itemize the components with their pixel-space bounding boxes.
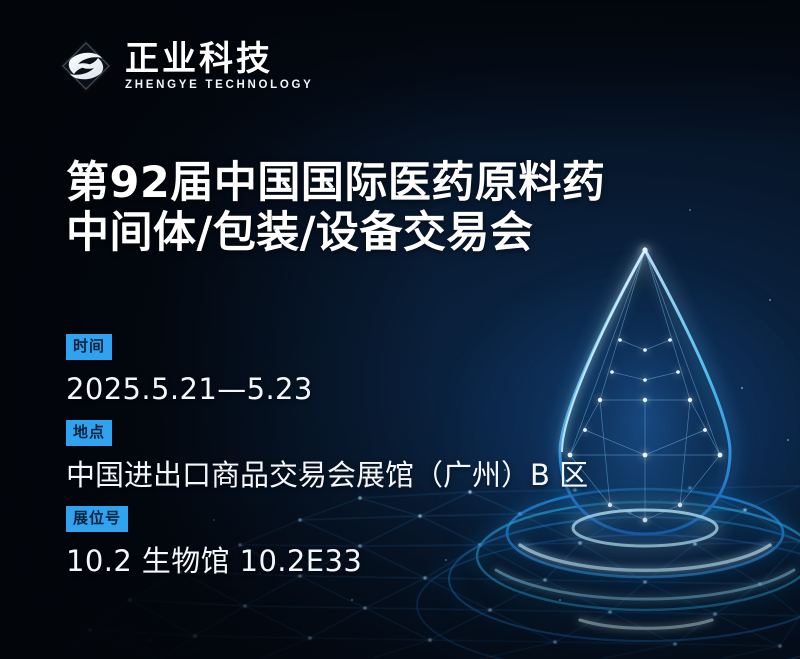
zhengye-diamond-swirl-icon (58, 38, 114, 94)
headline-line-2: 中间体/包装/设备交易会 (66, 208, 686, 258)
logo-company-name-en: ZHENGYE TECHNOLOGY (125, 79, 314, 92)
company-logo: 正业科技 ZHENGYE TECHNOLOGY (58, 38, 314, 94)
label-badge-time: 时间 (66, 334, 112, 360)
logo-wordmark: 正业科技 ZHENGYE TECHNOLOGY (125, 41, 314, 92)
label-badge-booth: 展位号 (66, 506, 128, 532)
value-booth-number: 10.2 生物馆 10.2E33 (66, 543, 726, 579)
headline-line-1: 第92届中国国际医药原料药 (66, 158, 686, 208)
event-details: 时间 2025.5.21—5.23 地点 中国进出口商品交易会展馆（广州）B 区… (66, 334, 726, 592)
detail-row-location: 地点 中国进出口商品交易会展馆（广州）B 区 (66, 420, 726, 493)
detail-row-time: 时间 2025.5.21—5.23 (66, 334, 726, 407)
exhibition-banner: 正业科技 ZHENGYE TECHNOLOGY 第92届中国国际医药原料药 中间… (0, 0, 800, 659)
event-headline: 第92届中国国际医药原料药 中间体/包装/设备交易会 (66, 158, 686, 258)
detail-row-booth: 展位号 10.2 生物馆 10.2E33 (66, 506, 726, 579)
value-event-location: 中国进出口商品交易会展馆（广州）B 区 (66, 457, 726, 493)
label-badge-location: 地点 (66, 420, 112, 446)
value-event-date: 2025.5.21—5.23 (66, 371, 726, 407)
logo-company-name-cn: 正业科技 (125, 41, 314, 77)
